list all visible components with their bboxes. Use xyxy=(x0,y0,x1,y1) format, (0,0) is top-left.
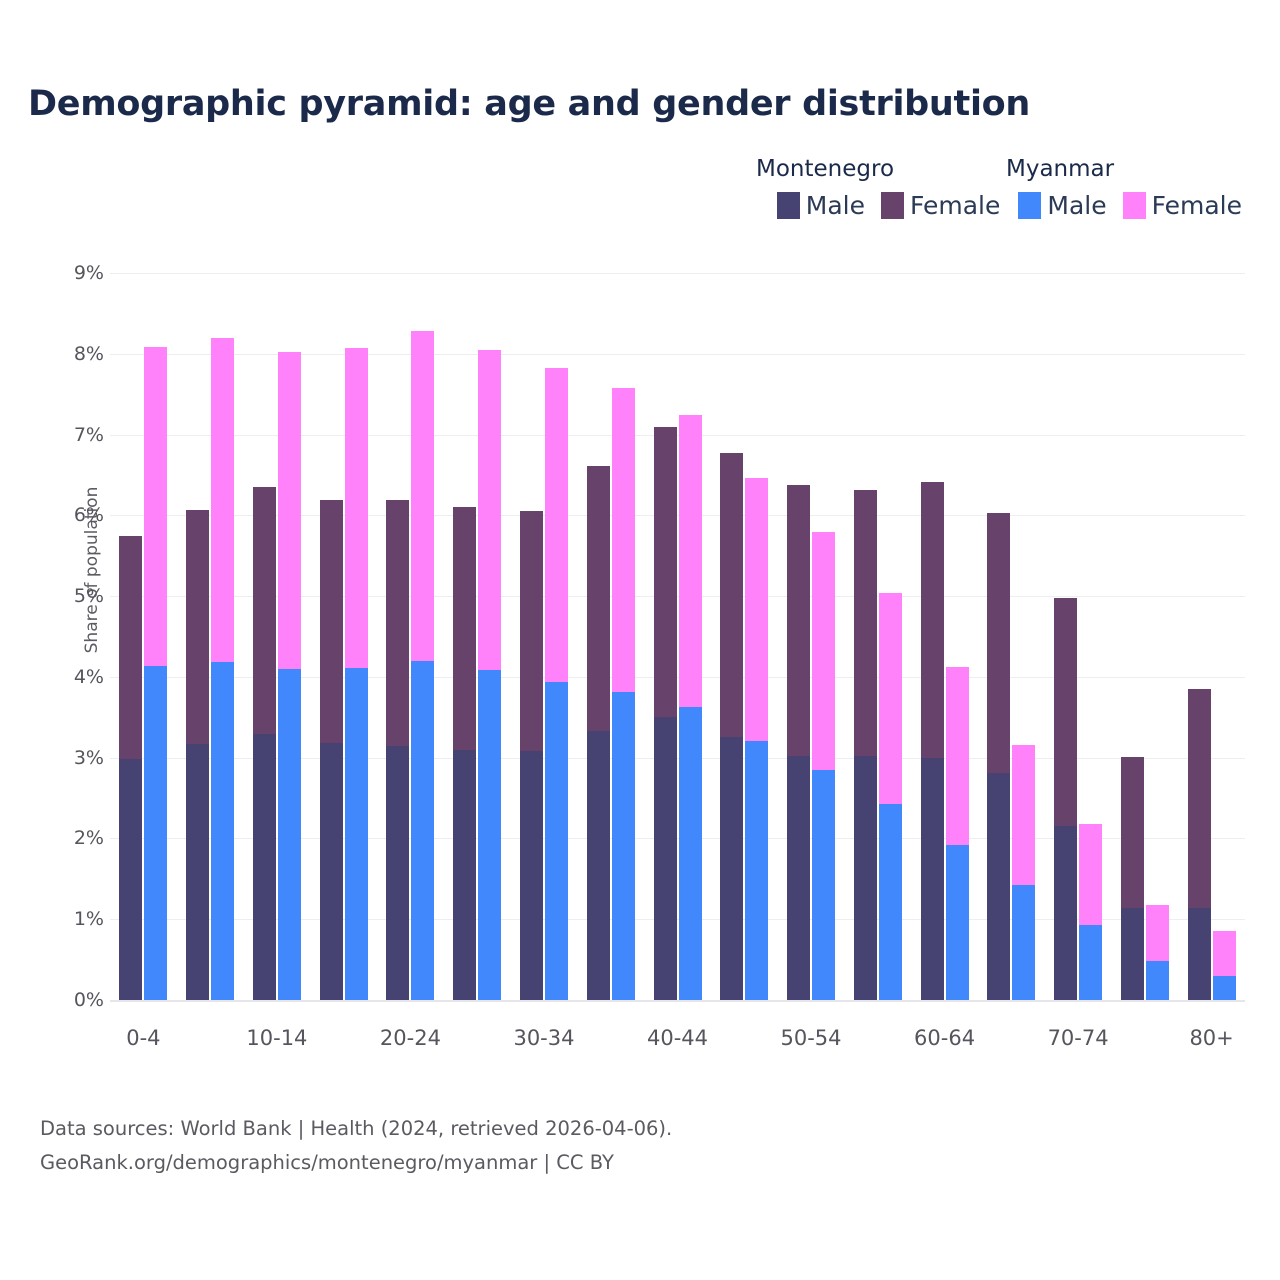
bar-group-55-59 xyxy=(854,273,902,1000)
bar-segment-myanmar-male[interactable] xyxy=(1079,925,1102,1000)
bar-group-80+ xyxy=(1188,273,1236,1000)
x-tick-label: 40-44 xyxy=(647,1026,708,1050)
bar-segment-montenegro-female[interactable] xyxy=(987,513,1010,773)
bar-segment-montenegro-male[interactable] xyxy=(320,743,343,1000)
x-tick-label: 80+ xyxy=(1189,1026,1233,1050)
y-tick-label: 6% xyxy=(46,504,104,526)
bar-segment-montenegro-female[interactable] xyxy=(253,487,276,734)
bar-segment-montenegro-female[interactable] xyxy=(119,536,142,760)
bar-myanmar-0-4[interactable] xyxy=(144,347,167,1000)
bar-montenegro-70-74[interactable] xyxy=(1054,598,1077,1000)
bar-segment-myanmar-male[interactable] xyxy=(1213,976,1236,1000)
bar-segment-myanmar-male[interactable] xyxy=(478,670,501,1000)
bar-group-65-69 xyxy=(987,273,1035,1000)
bar-montenegro-40-44[interactable] xyxy=(654,427,677,1000)
bar-group-35-39 xyxy=(587,273,635,1000)
bar-segment-montenegro-male[interactable] xyxy=(787,756,810,1000)
x-tick-label: 10-14 xyxy=(246,1026,307,1050)
bar-segment-myanmar-female[interactable] xyxy=(679,415,702,707)
bar-myanmar-30-34[interactable] xyxy=(545,368,568,1000)
bar-segment-myanmar-female[interactable] xyxy=(1213,931,1236,975)
bar-montenegro-60-64[interactable] xyxy=(921,482,944,1000)
chart-page: Demographic pyramid: age and gender dist… xyxy=(0,0,1280,1280)
bar-segment-myanmar-female[interactable] xyxy=(946,667,969,845)
bar-segment-montenegro-female[interactable] xyxy=(587,466,610,731)
bar-segment-myanmar-male[interactable] xyxy=(679,707,702,1000)
bar-myanmar-10-14[interactable] xyxy=(278,352,301,1000)
bar-segment-myanmar-male[interactable] xyxy=(946,845,969,1000)
bar-segment-montenegro-male[interactable] xyxy=(1121,908,1144,1000)
x-tick-label: 50-54 xyxy=(781,1026,842,1050)
bar-myanmar-35-39[interactable] xyxy=(612,388,635,1000)
bar-segment-myanmar-male[interactable] xyxy=(345,668,368,1000)
bar-segment-myanmar-female[interactable] xyxy=(745,478,768,741)
bar-segment-myanmar-female[interactable] xyxy=(411,331,434,661)
y-tick-label: 3% xyxy=(46,747,104,769)
bar-segment-myanmar-male[interactable] xyxy=(745,741,768,1000)
y-tick-label: 8% xyxy=(46,343,104,365)
bar-segment-montenegro-female[interactable] xyxy=(320,500,343,743)
footer-line-sources: Data sources: World Bank | Health (2024,… xyxy=(40,1112,672,1146)
footer-line-attribution: GeoRank.org/demographics/montenegro/myan… xyxy=(40,1146,672,1180)
bar-segment-myanmar-female[interactable] xyxy=(278,352,301,669)
bar-group-75-79 xyxy=(1121,273,1169,1000)
bar-montenegro-55-59[interactable] xyxy=(854,490,877,1001)
bar-segment-myanmar-male[interactable] xyxy=(812,770,835,1000)
bar-group-70-74 xyxy=(1054,273,1102,1000)
y-tick-label: 2% xyxy=(46,827,104,849)
bar-segment-myanmar-female[interactable] xyxy=(1012,745,1035,885)
bar-segment-myanmar-male[interactable] xyxy=(278,669,301,1000)
bar-segment-montenegro-male[interactable] xyxy=(119,759,142,1000)
bar-segment-montenegro-male[interactable] xyxy=(386,746,409,1000)
bar-segment-myanmar-male[interactable] xyxy=(1146,961,1169,1000)
bar-segment-montenegro-male[interactable] xyxy=(987,773,1010,1000)
bar-myanmar-45-49[interactable] xyxy=(745,478,768,1000)
bar-group-40-44 xyxy=(654,273,702,1000)
y-tick-label: 4% xyxy=(46,666,104,688)
x-tick-label: 0-4 xyxy=(126,1026,160,1050)
bar-montenegro-80+[interactable] xyxy=(1188,689,1211,1000)
bar-segment-myanmar-female[interactable] xyxy=(345,348,368,668)
bar-segment-montenegro-male[interactable] xyxy=(720,737,743,1000)
bar-segment-montenegro-female[interactable] xyxy=(921,482,944,757)
bar-montenegro-30-34[interactable] xyxy=(520,511,543,1000)
bar-group-20-24 xyxy=(386,273,434,1000)
bar-myanmar-75-79[interactable] xyxy=(1146,905,1169,1000)
bar-segment-montenegro-male[interactable] xyxy=(520,751,543,1000)
bar-myanmar-70-74[interactable] xyxy=(1079,824,1102,1000)
x-tick-label: 70-74 xyxy=(1048,1026,1109,1050)
bar-myanmar-20-24[interactable] xyxy=(411,331,434,1000)
bar-montenegro-45-49[interactable] xyxy=(720,453,743,1000)
bar-segment-montenegro-female[interactable] xyxy=(787,485,810,756)
y-tick-label: 9% xyxy=(46,262,104,284)
bar-segment-myanmar-male[interactable] xyxy=(411,661,434,1000)
bar-montenegro-75-79[interactable] xyxy=(1121,757,1144,1000)
bar-segment-montenegro-female[interactable] xyxy=(654,427,677,717)
bar-montenegro-65-69[interactable] xyxy=(987,513,1010,1000)
x-tick-label: 30-34 xyxy=(513,1026,574,1050)
bar-segment-myanmar-male[interactable] xyxy=(879,804,902,1000)
bar-myanmar-55-59[interactable] xyxy=(879,593,902,1000)
bar-segment-montenegro-male[interactable] xyxy=(253,734,276,1000)
bar-segment-montenegro-male[interactable] xyxy=(854,756,877,1000)
bar-segment-montenegro-male[interactable] xyxy=(1188,908,1211,1000)
bar-segment-myanmar-female[interactable] xyxy=(545,368,568,681)
bar-segment-myanmar-female[interactable] xyxy=(879,593,902,804)
bar-segment-myanmar-female[interactable] xyxy=(612,388,635,693)
bar-segment-montenegro-female[interactable] xyxy=(720,453,743,737)
bar-segment-montenegro-male[interactable] xyxy=(186,744,209,1000)
bar-segment-myanmar-female[interactable] xyxy=(144,347,167,665)
bar-montenegro-35-39[interactable] xyxy=(587,466,610,1000)
bar-segment-montenegro-female[interactable] xyxy=(1121,757,1144,908)
bar-segment-myanmar-female[interactable] xyxy=(812,532,835,770)
x-tick-label: 20-24 xyxy=(380,1026,441,1050)
bar-group-45-49 xyxy=(720,273,768,1000)
y-tick-label: 0% xyxy=(46,989,104,1011)
bar-segment-myanmar-male[interactable] xyxy=(612,692,635,1000)
bar-segment-montenegro-male[interactable] xyxy=(453,750,476,1000)
bar-group-50-54 xyxy=(787,273,835,1000)
bar-segment-myanmar-male[interactable] xyxy=(545,682,568,1000)
bar-segment-montenegro-female[interactable] xyxy=(186,510,209,744)
bar-segment-montenegro-female[interactable] xyxy=(1054,598,1077,826)
bar-montenegro-25-29[interactable] xyxy=(453,507,476,1000)
bar-group-60-64 xyxy=(921,273,969,1000)
bar-segment-myanmar-male[interactable] xyxy=(1012,885,1035,1001)
bar-group-15-19 xyxy=(320,273,368,1000)
bar-myanmar-25-29[interactable] xyxy=(478,350,501,1000)
bar-segment-myanmar-male[interactable] xyxy=(144,666,167,1000)
bar-group-25-29 xyxy=(453,273,501,1000)
bar-segment-montenegro-female[interactable] xyxy=(386,500,409,746)
bar-myanmar-5-9[interactable] xyxy=(211,338,234,1000)
plot-area: Share of population 0%1%2%3%4%5%6%7%8%9%… xyxy=(0,0,1280,1280)
bar-segment-myanmar-female[interactable] xyxy=(1146,905,1169,962)
bar-group-0-4 xyxy=(119,273,167,1000)
bar-myanmar-15-19[interactable] xyxy=(345,348,368,1000)
bar-segment-myanmar-female[interactable] xyxy=(211,338,234,662)
bar-segment-montenegro-male[interactable] xyxy=(654,717,677,1000)
bar-segment-myanmar-female[interactable] xyxy=(1079,824,1102,925)
bar-group-30-34 xyxy=(520,273,568,1000)
bar-montenegro-15-19[interactable] xyxy=(320,500,343,1000)
footer: Data sources: World Bank | Health (2024,… xyxy=(40,1112,672,1179)
bar-montenegro-50-54[interactable] xyxy=(787,485,810,1000)
bar-segment-myanmar-female[interactable] xyxy=(478,350,501,671)
bar-segment-montenegro-male[interactable] xyxy=(587,731,610,1000)
bar-segment-montenegro-female[interactable] xyxy=(453,507,476,750)
bar-segment-montenegro-male[interactable] xyxy=(1054,826,1077,1000)
bar-myanmar-60-64[interactable] xyxy=(946,667,969,1000)
bar-myanmar-40-44[interactable] xyxy=(679,415,702,1000)
bar-group-5-9 xyxy=(186,273,234,1000)
y-tick-label: 1% xyxy=(46,908,104,930)
bar-montenegro-0-4[interactable] xyxy=(119,536,142,1000)
bar-myanmar-65-69[interactable] xyxy=(1012,745,1035,1000)
y-tick-label: 7% xyxy=(46,424,104,446)
y-axis-ticks: 0%1%2%3%4%5%6%7%8%9% xyxy=(40,0,104,1280)
bar-segment-montenegro-male[interactable] xyxy=(921,758,944,1000)
bar-montenegro-5-9[interactable] xyxy=(186,510,209,1000)
bar-montenegro-10-14[interactable] xyxy=(253,487,276,1000)
bar-segment-montenegro-female[interactable] xyxy=(520,511,543,751)
bar-group-10-14 xyxy=(253,273,301,1000)
bar-segment-montenegro-female[interactable] xyxy=(854,490,877,757)
bars-layer xyxy=(110,0,1245,1280)
bar-myanmar-50-54[interactable] xyxy=(812,532,835,1001)
x-tick-label: 60-64 xyxy=(914,1026,975,1050)
bar-segment-myanmar-male[interactable] xyxy=(211,662,234,1000)
bar-segment-montenegro-female[interactable] xyxy=(1188,689,1211,908)
bar-montenegro-20-24[interactable] xyxy=(386,500,409,1000)
bar-myanmar-80+[interactable] xyxy=(1213,931,1236,1000)
y-tick-label: 5% xyxy=(46,585,104,607)
